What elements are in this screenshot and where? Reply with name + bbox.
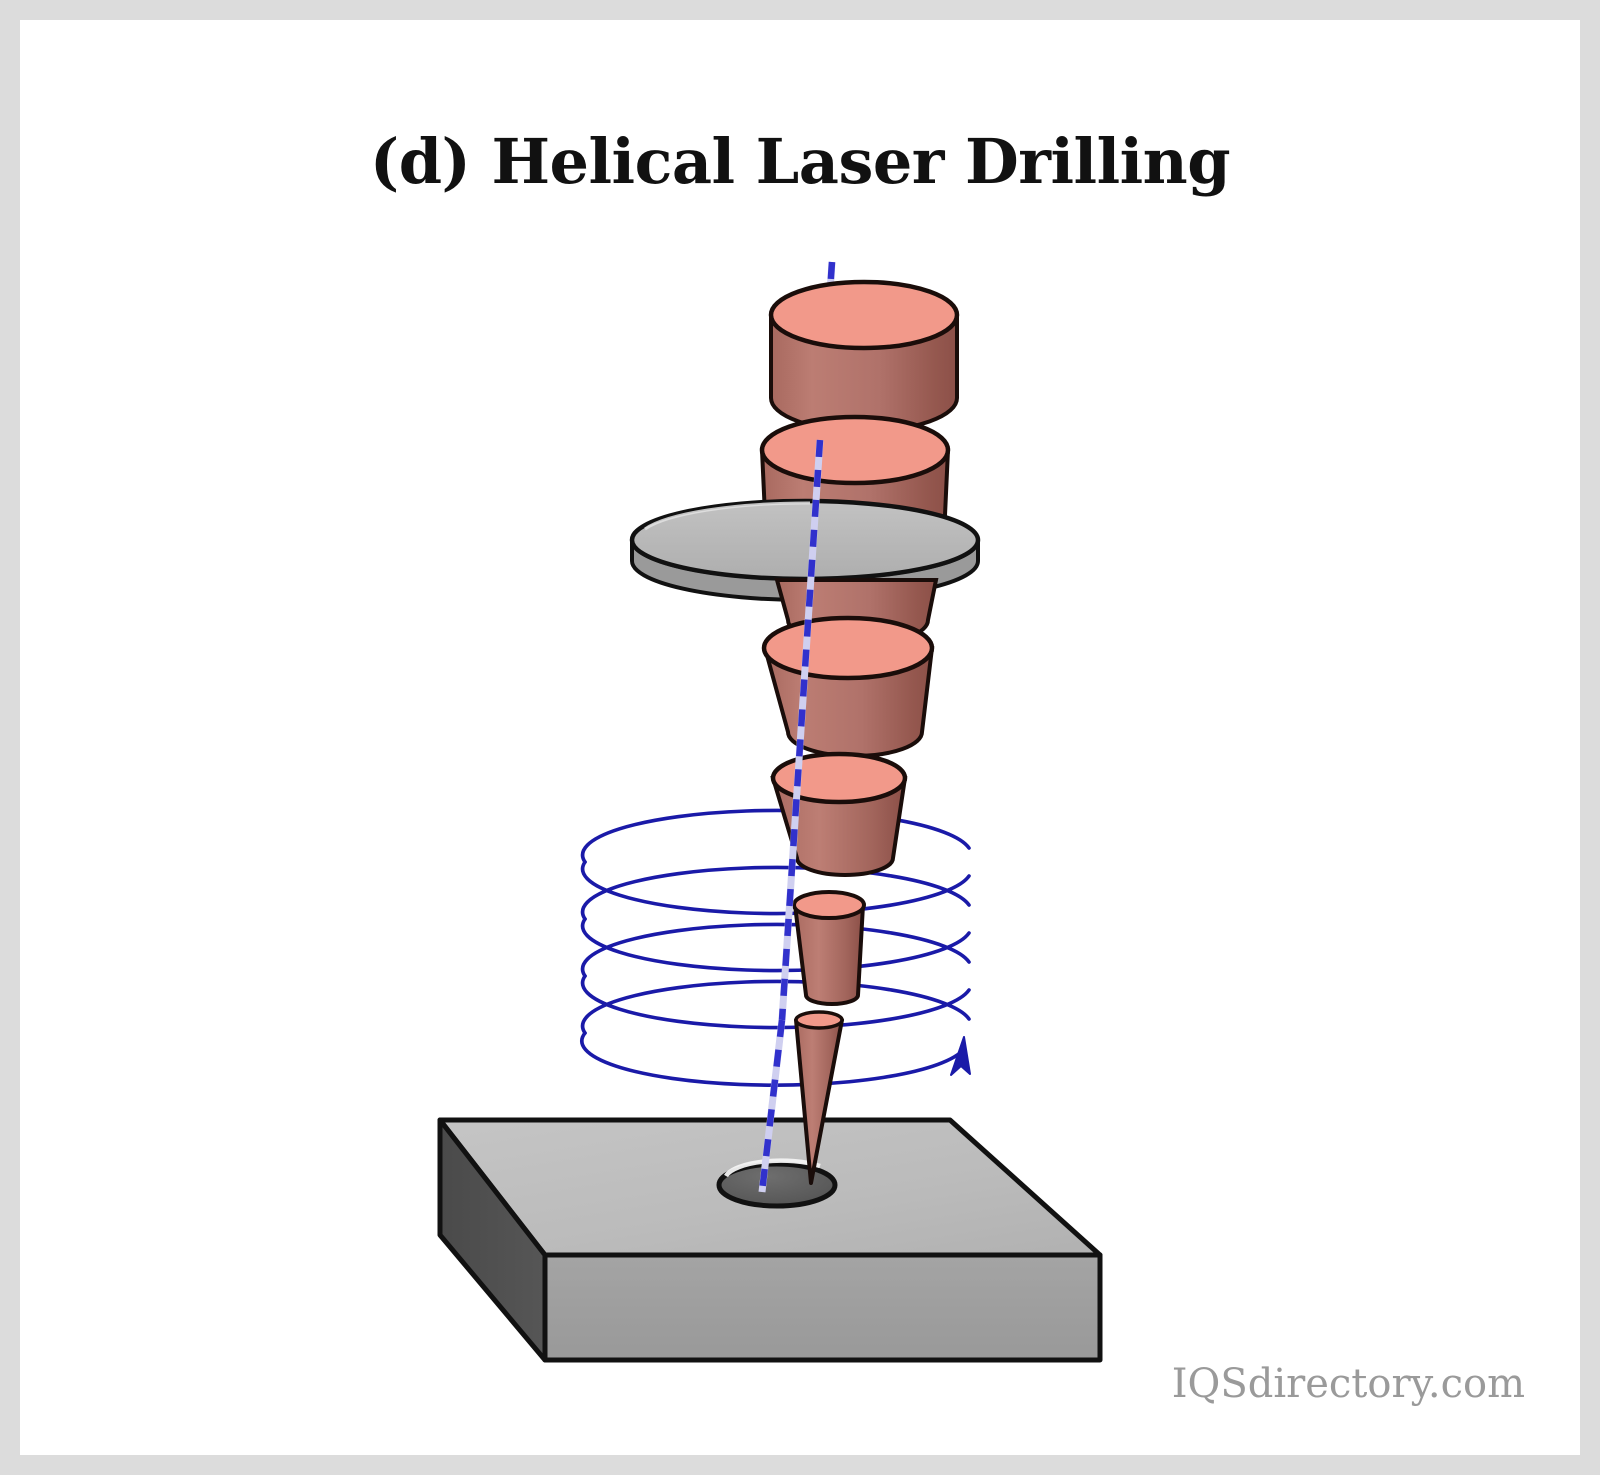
- helical-laser-drilling-illustration: [20, 20, 1580, 1455]
- helix-rear-arcs: [583, 810, 969, 1033]
- beam-segment-1: [771, 282, 957, 431]
- beam-segment-4: [764, 618, 932, 756]
- figure-canvas: (d) Helical Laser Drilling: [20, 20, 1580, 1455]
- figure-page: (d) Helical Laser Drilling: [0, 0, 1600, 1475]
- drilled-hole: [719, 1161, 835, 1206]
- beam-segment-6: [794, 892, 864, 1004]
- workpiece: [440, 1120, 1100, 1360]
- watermark: IQSdirectory.com: [1172, 1361, 1525, 1407]
